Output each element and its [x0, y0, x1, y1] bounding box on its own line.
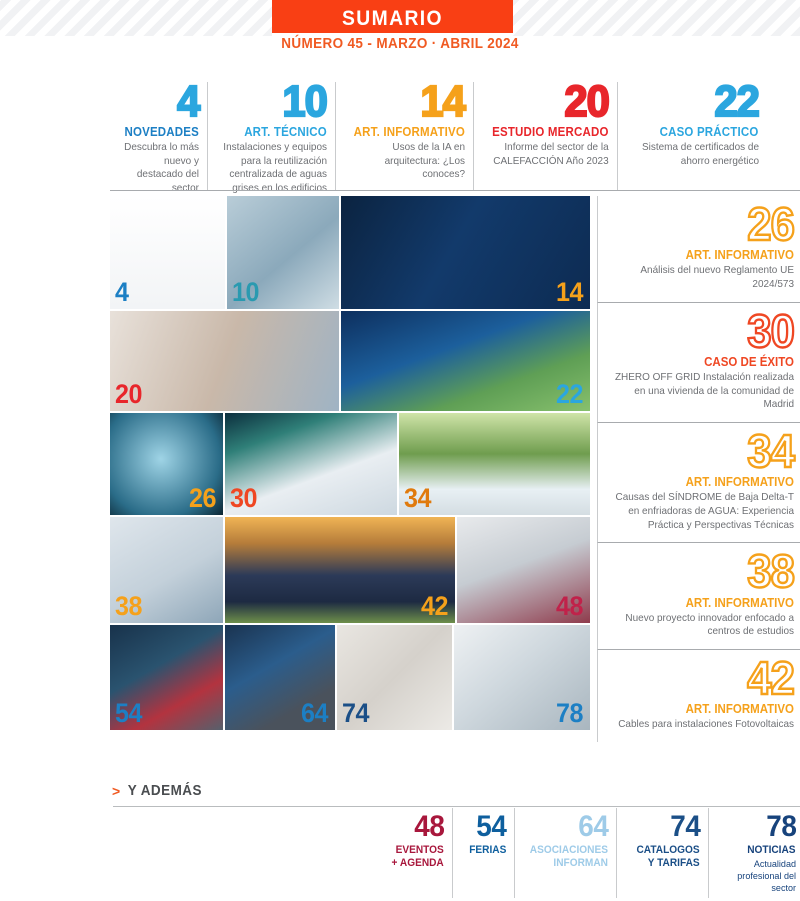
mosaic-tile-42[interactable]: 42 — [225, 517, 455, 623]
section-label: CASO DE ÉXITO — [619, 355, 794, 369]
mosaic-tile-34[interactable]: 34 — [399, 413, 590, 515]
section-item-20[interactable]: 20 ESTUDIO MERCADO Informe del sector de… — [473, 82, 617, 190]
section-label: ASOCIACIONES INFORMAN — [530, 844, 608, 870]
section-number: 64 — [578, 812, 608, 842]
section-item-34[interactable]: 34 ART. INFORMATIVO Causas del SÍNDROME … — [597, 422, 800, 542]
section-number: 22 — [714, 82, 759, 122]
section-number: 30 — [614, 311, 795, 352]
section-number: 54 — [476, 812, 506, 842]
mosaic-tile-20[interactable]: 20 — [110, 311, 339, 411]
mosaic-tile-38[interactable]: 38 — [110, 517, 223, 623]
section-description: Instalaciones y equipos para la reutiliz… — [222, 141, 327, 195]
section-label: EVENTOS + AGENDA — [392, 844, 444, 870]
section-number: 4 — [177, 82, 199, 122]
ademas-divider-rule — [113, 806, 800, 807]
mosaic-tile-10[interactable]: 10 — [227, 196, 339, 309]
image-mosaic: 41014202226303438424854647478 — [110, 196, 590, 766]
mosaic-tile-30[interactable]: 30 — [225, 413, 397, 515]
section-item-14[interactable]: 14 ART. INFORMATIVO Usos de la IA en arq… — [335, 82, 473, 190]
section-item-26[interactable]: 26 ART. INFORMATIVO Análisis del nuevo R… — [597, 196, 800, 302]
section-label: ESTUDIO MERCADO — [492, 125, 608, 139]
section-item-38[interactable]: 38 ART. INFORMATIVO Nuevo proyecto innov… — [597, 542, 800, 649]
section-number: 14 — [420, 82, 465, 122]
mosaic-tile-number: 20 — [115, 381, 142, 408]
mosaic-tile-number: 34 — [404, 485, 431, 512]
section-label: ART. TÉCNICO — [244, 125, 327, 139]
section-description: Cables para instalaciones Fotovoltaicas — [614, 718, 795, 732]
page-title: SUMARIO — [282, 0, 504, 33]
issue-line: NÚMERO 45 - MARZO · ABRIL 2024 — [28, 36, 772, 52]
mosaic-tile-4[interactable]: 4 — [110, 196, 225, 309]
section-description: Causas del SÍNDROME de Baja Delta-T en e… — [614, 491, 795, 532]
section-description: Descubra lo más nuevo y destacado del se… — [122, 141, 199, 195]
section-number: 38 — [614, 551, 795, 592]
top-divider-rule — [110, 190, 800, 191]
mosaic-tile-number: 64 — [301, 700, 328, 727]
chevron-right-icon: > — [112, 783, 120, 799]
section-item-64[interactable]: 64 ASOCIACIONES INFORMAN — [514, 808, 616, 898]
mosaic-tile-number: 10 — [232, 279, 259, 306]
mosaic-tile-number: 54 — [115, 700, 142, 727]
mosaic-tile-number: 26 — [189, 485, 216, 512]
section-description: Sistema de certificados de ahorro energé… — [632, 141, 758, 168]
section-description: Usos de la IA en arquitectura: ¿Los cono… — [350, 141, 465, 181]
section-number: 10 — [282, 82, 327, 122]
section-item-78[interactable]: 78 NOTICIAS Actualidad profesional del s… — [708, 808, 800, 898]
section-item-42[interactable]: 42 ART. INFORMATIVO Cables para instalac… — [597, 649, 800, 742]
right-rail-sections: 26 ART. INFORMATIVO Análisis del nuevo R… — [597, 196, 800, 742]
section-label: ART. INFORMATIVO — [354, 125, 465, 139]
mosaic-tile-number: 42 — [421, 593, 448, 620]
section-number: 42 — [614, 658, 795, 699]
section-number: 26 — [614, 204, 795, 245]
mosaic-tile-number: 74 — [342, 700, 369, 727]
diagonal-stripe-pattern-left — [0, 0, 272, 36]
mosaic-tile-78[interactable]: 78 — [454, 625, 590, 730]
section-item-54[interactable]: 54 FERIAS — [452, 808, 514, 898]
y-ademas-label: Y ADEMÁS — [128, 783, 202, 799]
diagonal-stripe-pattern-right — [513, 0, 800, 36]
section-number: 34 — [614, 431, 795, 472]
mosaic-tile-26[interactable]: 26 — [110, 413, 223, 515]
section-description: ZHERO OFF GRID Instalación realizada en … — [614, 371, 795, 412]
section-label: NOTICIAS — [748, 844, 796, 857]
section-number: 78 — [766, 812, 796, 842]
section-description: Informe del sector de la CALEFACCIÓN Año… — [488, 141, 608, 168]
y-ademas-heading: > Y ADEMÁS — [112, 783, 205, 799]
mosaic-tile-64[interactable]: 64 — [225, 625, 335, 730]
section-description: Actualidad profesional del sector — [721, 859, 796, 895]
sumario-page: SUMARIO NÚMERO 45 - MARZO · ABRIL 2024 4… — [0, 0, 800, 901]
section-item-22[interactable]: 22 CASO PRÁCTICO Sistema de certificados… — [617, 82, 767, 190]
mosaic-tile-number: 4 — [115, 279, 129, 306]
mosaic-tile-number: 14 — [556, 279, 583, 306]
mosaic-tile-74[interactable]: 74 — [337, 625, 452, 730]
bottom-sections-row: 48 EVENTOS + AGENDA 54 FERIAS 64 ASOCIAC… — [355, 808, 800, 898]
section-item-74[interactable]: 74 CATALOGOS Y TARIFAS — [616, 808, 708, 898]
section-label: ART. INFORMATIVO — [619, 596, 794, 610]
mosaic-tile-number: 30 — [230, 485, 257, 512]
section-item-30[interactable]: 30 CASO DE ÉXITO ZHERO OFF GRID Instalac… — [597, 302, 800, 422]
section-description: Análisis del nuevo Reglamento UE 2024/57… — [614, 264, 795, 291]
mosaic-tile-number: 78 — [556, 700, 583, 727]
section-label: ART. INFORMATIVO — [619, 475, 794, 489]
section-description: Nuevo proyecto innovador enfocado a cent… — [614, 612, 795, 639]
mosaic-tile-number: 48 — [556, 593, 583, 620]
section-number: 74 — [670, 812, 700, 842]
top-sections-row: 4 NOVEDADES Descubra lo más nuevo y dest… — [110, 82, 800, 190]
mosaic-tile-22[interactable]: 22 — [341, 311, 590, 411]
section-item-4[interactable]: 4 NOVEDADES Descubra lo más nuevo y dest… — [110, 82, 207, 190]
section-label: CATALOGOS Y TARIFAS — [637, 844, 700, 870]
section-item-10[interactable]: 10 ART. TÉCNICO Instalaciones y equipos … — [207, 82, 335, 190]
section-label: FERIAS — [469, 844, 506, 857]
section-label: CASO PRÁCTICO — [660, 125, 759, 139]
mosaic-tile-number: 22 — [556, 381, 583, 408]
section-label: NOVEDADES — [124, 125, 199, 139]
section-number: 20 — [564, 82, 609, 122]
section-item-48[interactable]: 48 EVENTOS + AGENDA — [355, 808, 452, 898]
mosaic-tile-54[interactable]: 54 — [110, 625, 223, 730]
section-number: 48 — [414, 812, 444, 842]
mosaic-tile-14[interactable]: 14 — [341, 196, 590, 309]
mosaic-tile-number: 38 — [115, 593, 142, 620]
section-label: ART. INFORMATIVO — [619, 248, 794, 262]
mosaic-tile-48[interactable]: 48 — [457, 517, 590, 623]
section-label: ART. INFORMATIVO — [619, 702, 794, 716]
